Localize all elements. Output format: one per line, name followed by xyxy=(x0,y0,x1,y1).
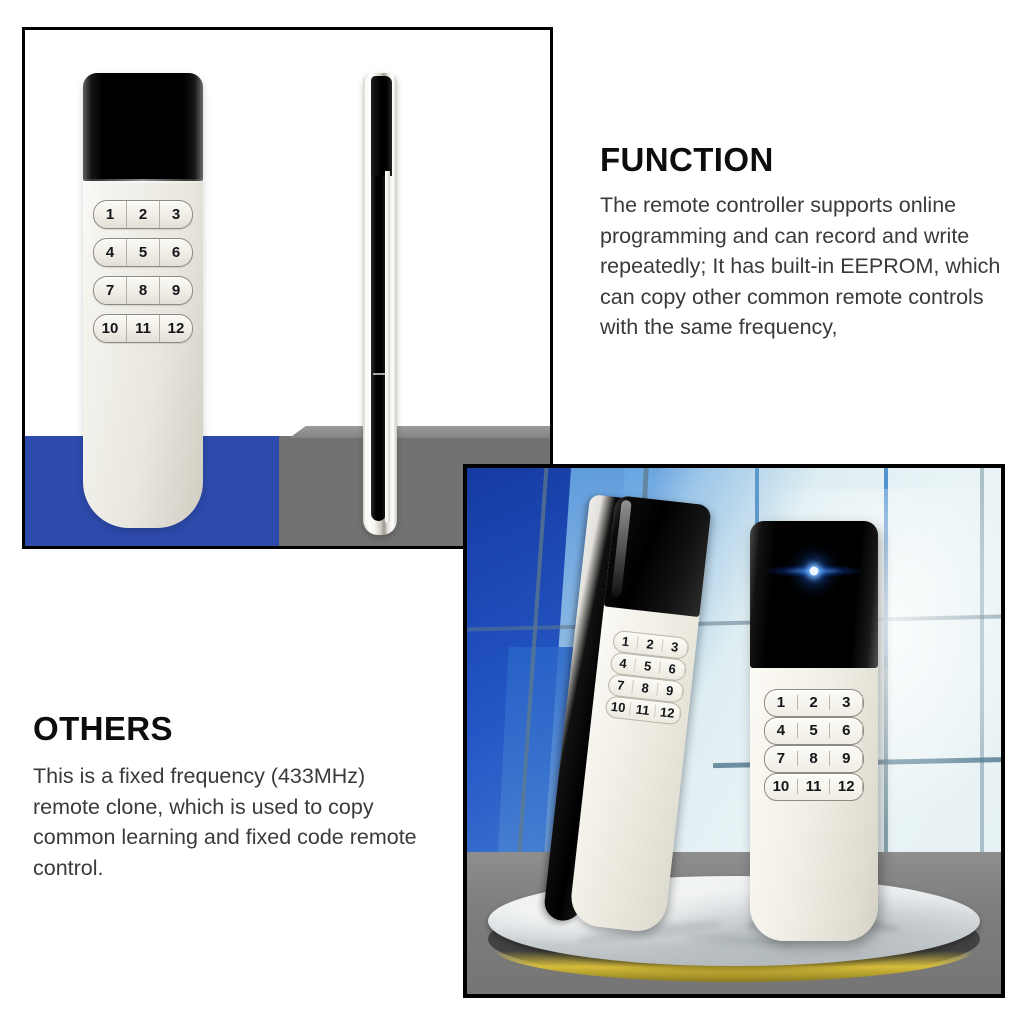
infographic-canvas: 1 2 3 4 5 6 7 8 9 10 11 12 xyxy=(0,0,1020,1020)
tilted-remote-gloss-highlight xyxy=(611,500,631,597)
keypad-key[interactable]: 1 xyxy=(765,695,798,710)
keypad-row[interactable]: 10 11 12 xyxy=(93,314,193,343)
keypad-key[interactable]: 10 xyxy=(606,699,632,715)
keypad-key[interactable]: 7 xyxy=(608,678,634,694)
keypad-key[interactable]: 1 xyxy=(613,634,639,650)
remote-keypad: 1 2 3 4 5 6 7 8 9 10 11 12 xyxy=(93,200,193,343)
keypad-key[interactable]: 10 xyxy=(765,779,798,794)
keypad-key[interactable]: 2 xyxy=(127,201,160,228)
keypad-key[interactable]: 3 xyxy=(160,201,192,228)
keypad-key[interactable]: 10 xyxy=(94,315,127,342)
keypad-key[interactable]: 6 xyxy=(660,661,686,677)
others-text-block: OTHERS This is a fixed frequency (433MHz… xyxy=(33,712,433,883)
keypad-key[interactable]: 9 xyxy=(830,751,863,766)
keypad-row[interactable]: 4 5 6 xyxy=(93,238,193,267)
keypad-key[interactable]: 4 xyxy=(765,723,798,738)
keypad-key[interactable]: 5 xyxy=(127,239,160,266)
keypad-key[interactable]: 3 xyxy=(830,695,863,710)
keypad-key[interactable]: 2 xyxy=(798,695,831,710)
keypad-key[interactable]: 8 xyxy=(798,751,831,766)
remote-side-white-edge xyxy=(385,171,390,523)
tilted-remote-keypad: 1 2 3 4 5 6 7 8 9 xyxy=(604,629,689,725)
keypad-key[interactable]: 9 xyxy=(657,683,683,699)
product-photo-panel: 1 2 3 4 5 6 7 8 9 xyxy=(463,464,1005,998)
keypad-key[interactable]: 5 xyxy=(635,658,661,674)
keypad-key[interactable]: 8 xyxy=(633,680,659,696)
led-indicator-icon xyxy=(810,566,819,575)
remote-side-view xyxy=(363,73,397,535)
function-text-block: FUNCTION The remote controller supports … xyxy=(600,143,1012,343)
keypad-key[interactable]: 12 xyxy=(830,779,863,794)
remote-front-view: 1 2 3 4 5 6 7 8 9 10 11 12 xyxy=(83,73,203,528)
photo-scene: 1 2 3 4 5 6 7 8 9 xyxy=(467,468,1001,994)
keypad-key[interactable]: 4 xyxy=(611,656,637,672)
keypad-key[interactable]: 3 xyxy=(662,639,688,655)
keypad-key[interactable]: 2 xyxy=(638,637,664,653)
keypad-key[interactable]: 7 xyxy=(765,751,798,766)
remote-side-black-top xyxy=(371,76,392,176)
function-body: The remote controller supports online pr… xyxy=(600,190,1012,343)
keypad-key[interactable]: 11 xyxy=(798,779,831,794)
keypad-key[interactable]: 9 xyxy=(160,277,192,304)
others-heading: OTHERS xyxy=(33,712,433,745)
function-heading: FUNCTION xyxy=(600,143,1012,176)
keypad-row[interactable]: 4 5 6 xyxy=(764,717,864,745)
upright-remote-black-top xyxy=(750,521,878,668)
keypad-row[interactable]: 10 11 12 xyxy=(764,773,864,801)
upright-remote-keypad: 1 2 3 4 5 6 7 8 9 10 xyxy=(764,689,864,801)
remote-side-highlight xyxy=(365,77,370,525)
keypad-row[interactable]: 7 8 9 xyxy=(93,276,193,305)
keypad-key[interactable]: 12 xyxy=(655,705,681,721)
keypad-key[interactable]: 8 xyxy=(127,277,160,304)
keypad-key[interactable]: 1 xyxy=(94,201,127,228)
remote-side-seam xyxy=(373,373,385,375)
keypad-key[interactable]: 6 xyxy=(160,239,192,266)
tilted-remote-black-top xyxy=(604,495,712,617)
keypad-key[interactable]: 12 xyxy=(160,315,192,342)
photo-remote-upright: 1 2 3 4 5 6 7 8 9 10 xyxy=(750,521,878,942)
keypad-row[interactable]: 1 2 3 xyxy=(764,689,864,717)
keypad-key[interactable]: 6 xyxy=(830,723,863,738)
others-body: This is a fixed frequency (433MHz) remot… xyxy=(33,761,433,883)
keypad-key[interactable]: 7 xyxy=(94,277,127,304)
keypad-key[interactable]: 11 xyxy=(127,315,160,342)
keypad-row[interactable]: 7 8 9 xyxy=(764,745,864,773)
remote-black-top-panel xyxy=(83,73,203,181)
keypad-key[interactable]: 11 xyxy=(630,702,656,718)
keypad-row[interactable]: 1 2 3 xyxy=(93,200,193,229)
keypad-key[interactable]: 4 xyxy=(94,239,127,266)
keypad-key[interactable]: 5 xyxy=(798,723,831,738)
